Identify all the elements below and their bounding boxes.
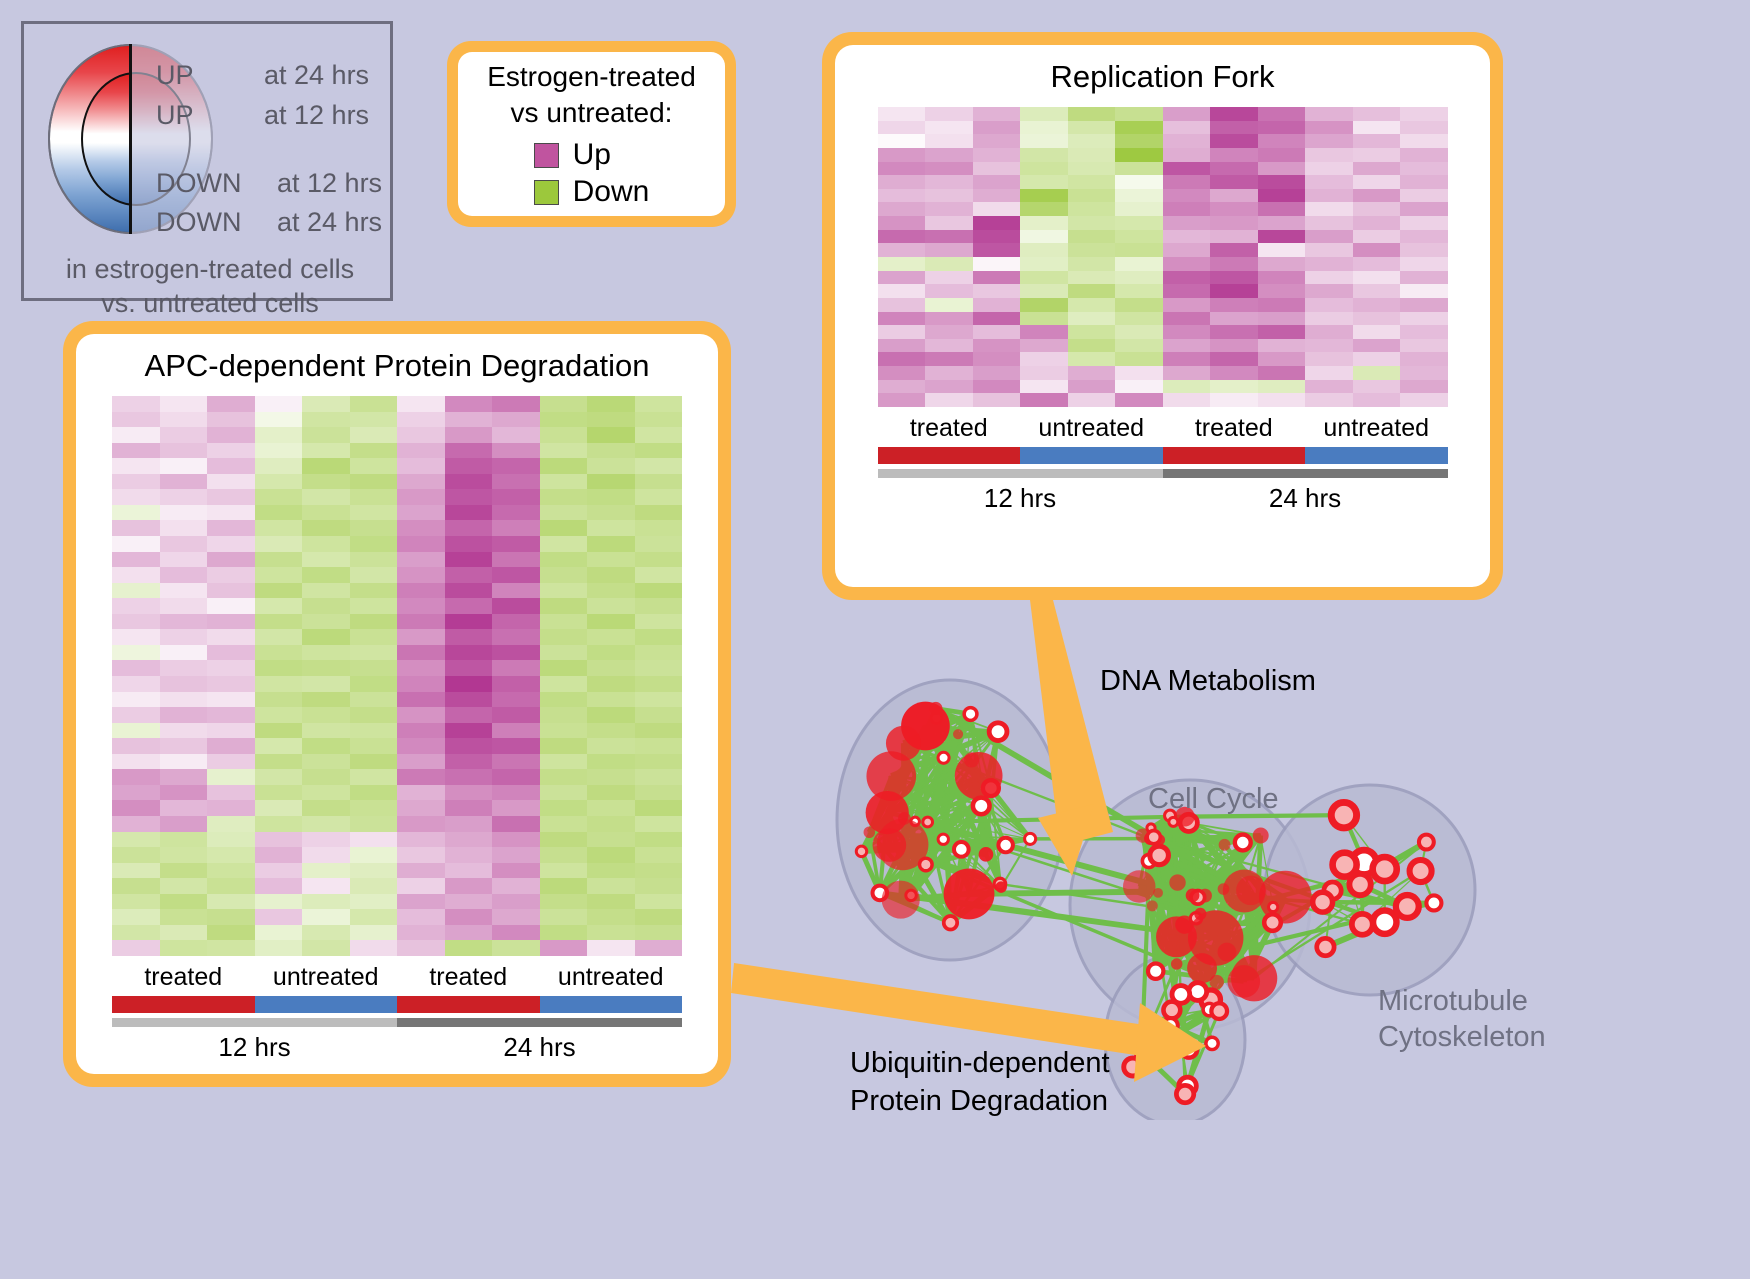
network-node[interactable] bbox=[1396, 895, 1419, 918]
heatmap-cell bbox=[1353, 339, 1401, 353]
heatmap-cell bbox=[1163, 134, 1211, 148]
heatmap-cell bbox=[1068, 175, 1116, 189]
heatmap-cell bbox=[350, 832, 398, 848]
heatmap-cell bbox=[540, 878, 588, 894]
heatmap-cell bbox=[397, 769, 445, 785]
heatmap-cell bbox=[1210, 107, 1258, 121]
heatmap-cell bbox=[445, 738, 493, 754]
network-node[interactable] bbox=[944, 916, 957, 929]
heatmap-cell bbox=[112, 676, 160, 692]
heatmap-cell bbox=[587, 800, 635, 816]
heatmap-cell bbox=[397, 785, 445, 801]
heatmap-cell bbox=[112, 738, 160, 754]
heatmap-cell bbox=[635, 816, 683, 832]
network-node[interactable] bbox=[973, 798, 990, 815]
network-node[interactable] bbox=[1171, 958, 1182, 969]
heatmap-cell bbox=[255, 505, 303, 521]
heatmap-cell bbox=[397, 567, 445, 583]
down-color-swatch bbox=[534, 180, 559, 205]
heatmap-cell bbox=[445, 536, 493, 552]
heatmap-cell bbox=[635, 878, 683, 894]
heatmap-cell bbox=[635, 692, 683, 708]
heatmap-cell bbox=[1020, 175, 1068, 189]
heatmap-cell bbox=[1068, 216, 1116, 230]
heatmap-cell bbox=[635, 458, 683, 474]
heatmap-cell bbox=[160, 909, 208, 925]
network-label-cell-cycle: Cell Cycle bbox=[1148, 783, 1279, 816]
heatmap-cell bbox=[112, 505, 160, 521]
heatmap-cell bbox=[255, 769, 303, 785]
network-node[interactable] bbox=[1176, 1085, 1193, 1102]
heatmap-cell bbox=[1258, 189, 1306, 203]
network-node[interactable] bbox=[1181, 1041, 1197, 1057]
group-labels-apc-dependent: treateduntreatedtreateduntreated bbox=[112, 963, 682, 992]
heatmap-cell bbox=[587, 567, 635, 583]
heatmap-cell bbox=[255, 614, 303, 630]
legend-label-down: Down bbox=[573, 175, 650, 209]
heatmap-cell bbox=[1353, 366, 1401, 380]
heatmap-cell bbox=[112, 645, 160, 661]
network-node[interactable] bbox=[953, 729, 963, 739]
network-node[interactable] bbox=[1147, 831, 1160, 844]
network-node[interactable] bbox=[998, 838, 1013, 853]
network-node[interactable] bbox=[1373, 857, 1397, 881]
network-node[interactable] bbox=[886, 726, 921, 761]
heatmap-cell bbox=[445, 925, 493, 941]
heatmap-cell bbox=[397, 660, 445, 676]
heatmap-cell bbox=[302, 692, 350, 708]
heatmap-cell bbox=[160, 598, 208, 614]
heatmap-cell bbox=[925, 312, 973, 326]
heatmap-cell bbox=[350, 489, 398, 505]
heatmap-cell bbox=[1068, 366, 1116, 380]
network-node[interactable] bbox=[1147, 900, 1158, 911]
estrogen-legend-title: Estrogen-treatedvs untreated: bbox=[487, 59, 696, 131]
group-label: treated bbox=[397, 963, 540, 992]
heatmap-cell bbox=[350, 692, 398, 708]
heatmap-cell bbox=[1353, 271, 1401, 285]
heatmap-cell bbox=[302, 723, 350, 739]
heatmap-cell bbox=[1163, 175, 1211, 189]
network-node[interactable] bbox=[979, 847, 994, 862]
heatmap-cell bbox=[302, 583, 350, 599]
heatmap-cell bbox=[302, 660, 350, 676]
panel-title-apc-dependent: APC-dependent Protein Degradation bbox=[145, 348, 650, 384]
heatmap-cell bbox=[302, 396, 350, 412]
network-node[interactable] bbox=[1211, 1003, 1227, 1019]
panel-apc-dependent-inner: APC-dependent Protein Degradation treate… bbox=[76, 334, 718, 1074]
heatmap-cell bbox=[302, 629, 350, 645]
heatmap-cell bbox=[397, 894, 445, 910]
network-node[interactable] bbox=[1172, 986, 1190, 1004]
group-label: treated bbox=[878, 414, 1021, 443]
heatmap-cell bbox=[397, 583, 445, 599]
network-node[interactable] bbox=[1228, 965, 1261, 998]
heatmap-cell bbox=[255, 878, 303, 894]
network-node[interactable] bbox=[1410, 860, 1432, 882]
heatmap-cell bbox=[1020, 380, 1068, 394]
network-node[interactable] bbox=[954, 842, 969, 857]
key-state-up-12: UP bbox=[156, 100, 194, 131]
network-node[interactable] bbox=[938, 834, 948, 844]
heatmap-cell bbox=[445, 676, 493, 692]
heatmap-cell bbox=[1305, 175, 1353, 189]
network-node[interactable] bbox=[1138, 1052, 1155, 1069]
heatmap-cell bbox=[973, 189, 1021, 203]
heatmap-cell bbox=[492, 940, 540, 956]
heatmap-cell bbox=[445, 785, 493, 801]
heatmap-cell bbox=[1115, 107, 1163, 121]
network-node[interactable] bbox=[1141, 1014, 1154, 1027]
network-node[interactable] bbox=[1186, 888, 1200, 902]
heatmap-cell bbox=[1305, 216, 1353, 230]
heatmap-cell bbox=[540, 629, 588, 645]
network-node[interactable] bbox=[995, 881, 1007, 893]
heatmap-cell bbox=[112, 785, 160, 801]
heatmap-cell bbox=[207, 614, 255, 630]
estrogen-legend-items: Up Down bbox=[534, 135, 650, 209]
group-color-segment bbox=[112, 996, 255, 1013]
heatmap-cell bbox=[1020, 298, 1068, 312]
heatmap-cell bbox=[587, 598, 635, 614]
heatmap-cell bbox=[160, 832, 208, 848]
heatmap-cell bbox=[540, 676, 588, 692]
network-node[interactable] bbox=[1313, 892, 1333, 912]
network-node[interactable] bbox=[938, 752, 949, 763]
heatmap-cell bbox=[160, 412, 208, 428]
heatmap-cell bbox=[255, 474, 303, 490]
heatmap-cell bbox=[112, 754, 160, 770]
network-node[interactable] bbox=[1223, 869, 1266, 912]
network-node[interactable] bbox=[989, 723, 1007, 741]
heatmap-cell bbox=[112, 816, 160, 832]
heatmap-cell bbox=[302, 443, 350, 459]
heatmap-cell bbox=[587, 769, 635, 785]
network-node[interactable] bbox=[882, 881, 920, 919]
network-node[interactable] bbox=[1169, 874, 1185, 890]
heatmap-cell bbox=[445, 489, 493, 505]
heatmap-cell bbox=[255, 738, 303, 754]
network-node[interactable] bbox=[1163, 1018, 1178, 1033]
heatmap-cell bbox=[445, 583, 493, 599]
heatmap-cell bbox=[397, 629, 445, 645]
heatmap-cell bbox=[635, 925, 683, 941]
network-node[interactable] bbox=[1264, 914, 1281, 931]
heatmap-cell bbox=[112, 909, 160, 925]
heatmap-cell bbox=[397, 832, 445, 848]
group-color-segment bbox=[878, 447, 1021, 464]
heatmap-cell bbox=[302, 769, 350, 785]
network-node[interactable] bbox=[1218, 883, 1230, 895]
heatmap-cell bbox=[1115, 121, 1163, 135]
legend-key-box: UP at 24 hrs UP at 12 hrs DOWN at 12 hrs… bbox=[21, 21, 393, 301]
heatmap-cell bbox=[1163, 189, 1211, 203]
heatmap-cell bbox=[1353, 189, 1401, 203]
heatmap-cell bbox=[973, 148, 1021, 162]
heatmap-cell bbox=[1305, 380, 1353, 394]
heatmap-cell bbox=[207, 769, 255, 785]
heatmap-cell bbox=[587, 754, 635, 770]
heatmap-cell bbox=[1020, 121, 1068, 135]
network-node[interactable] bbox=[1150, 846, 1169, 865]
heatmap-cell bbox=[445, 505, 493, 521]
network-node[interactable] bbox=[1123, 870, 1155, 902]
heatmap-cell bbox=[1163, 284, 1211, 298]
heatmap-cell bbox=[587, 536, 635, 552]
heatmap-cell bbox=[1400, 162, 1448, 176]
heatmap-cell bbox=[540, 940, 588, 956]
heatmap-cell bbox=[350, 925, 398, 941]
heatmap-cell bbox=[635, 738, 683, 754]
network-node[interactable] bbox=[1156, 916, 1197, 957]
heatmap-cell bbox=[1305, 148, 1353, 162]
heatmap-cell bbox=[255, 785, 303, 801]
heatmap-cell bbox=[1305, 134, 1353, 148]
heatmap-cell bbox=[350, 629, 398, 645]
network-node[interactable] bbox=[1352, 914, 1373, 935]
heatmap-cell bbox=[112, 536, 160, 552]
heatmap-cell bbox=[350, 583, 398, 599]
figure-canvas: UP at 24 hrs UP at 12 hrs DOWN at 12 hrs… bbox=[0, 0, 1750, 1279]
heatmap-cell bbox=[1163, 380, 1211, 394]
heatmap-cell bbox=[112, 692, 160, 708]
heatmap-cell bbox=[1068, 380, 1116, 394]
heatmap-cell bbox=[350, 878, 398, 894]
heatmap-cell bbox=[160, 676, 208, 692]
heatmap-cell bbox=[1020, 189, 1068, 203]
heatmap-cell bbox=[1068, 230, 1116, 244]
network-node[interactable] bbox=[1235, 835, 1251, 851]
heatmap-cell bbox=[973, 298, 1021, 312]
heatmap-cell bbox=[1400, 298, 1448, 312]
network-node[interactable] bbox=[1219, 839, 1231, 851]
network-node[interactable] bbox=[1331, 802, 1356, 827]
heatmap-cell bbox=[587, 692, 635, 708]
heatmap-cell bbox=[878, 216, 926, 230]
network-node[interactable] bbox=[944, 868, 995, 919]
heatmap-cell bbox=[112, 707, 160, 723]
heatmap-cell bbox=[350, 816, 398, 832]
panel-title-replication-fork: Replication Fork bbox=[1051, 59, 1275, 95]
network-node[interactable] bbox=[1333, 853, 1357, 877]
heatmap-cell bbox=[350, 505, 398, 521]
heatmap-cell bbox=[1305, 107, 1353, 121]
network-node[interactable] bbox=[1253, 828, 1269, 844]
heatmap-cell bbox=[160, 474, 208, 490]
heatmap-cell bbox=[1068, 107, 1116, 121]
heatmap-cell bbox=[973, 243, 1021, 257]
heatmap-cell bbox=[878, 352, 926, 366]
heatmap-cell bbox=[302, 754, 350, 770]
heatmap-cell bbox=[540, 847, 588, 863]
heatmap-cell bbox=[397, 645, 445, 661]
heatmap-cell bbox=[350, 738, 398, 754]
network-node[interactable] bbox=[1210, 975, 1224, 989]
heatmap-cell bbox=[1258, 352, 1306, 366]
heatmap-cell bbox=[1115, 352, 1163, 366]
network-node[interactable] bbox=[1269, 902, 1278, 911]
heatmap-cell bbox=[445, 723, 493, 739]
heatmap-cell bbox=[160, 800, 208, 816]
heatmap-cell bbox=[1020, 325, 1068, 339]
heatmap-cell bbox=[302, 676, 350, 692]
heatmap-cell bbox=[1400, 243, 1448, 257]
heatmap-cell bbox=[112, 660, 160, 676]
heatmap-cell bbox=[492, 925, 540, 941]
heatmap-cell bbox=[255, 676, 303, 692]
heatmap-cell bbox=[540, 909, 588, 925]
network-node[interactable] bbox=[964, 708, 977, 721]
heatmap-cell bbox=[1258, 243, 1306, 257]
network-node[interactable] bbox=[1169, 817, 1178, 826]
network-node[interactable] bbox=[1218, 943, 1237, 962]
heatmap-cell bbox=[492, 520, 540, 536]
network-node[interactable] bbox=[1148, 963, 1163, 978]
heatmap-cell bbox=[160, 816, 208, 832]
heatmap-cell bbox=[587, 505, 635, 521]
heatmap-cell bbox=[492, 692, 540, 708]
heatmap-cell bbox=[1020, 366, 1068, 380]
key-time-down-12: at 12 hrs bbox=[277, 168, 382, 199]
heatmap-cell bbox=[878, 175, 926, 189]
heatmap-cell bbox=[1163, 271, 1211, 285]
heatmap-cell bbox=[1210, 352, 1258, 366]
heatmap-cell bbox=[160, 660, 208, 676]
heatmap-cell bbox=[587, 863, 635, 879]
key-state-down-12: DOWN bbox=[156, 168, 241, 199]
heatmap-cell bbox=[255, 412, 303, 428]
heatmap-cell bbox=[397, 692, 445, 708]
heatmap-cell bbox=[973, 162, 1021, 176]
up-color-swatch bbox=[534, 143, 559, 168]
heatmap-cell bbox=[1115, 257, 1163, 271]
heatmap-cell bbox=[112, 520, 160, 536]
heatmap-cell bbox=[925, 352, 973, 366]
heatmap-cell bbox=[1353, 312, 1401, 326]
heatmap-cell bbox=[350, 536, 398, 552]
group-color-segment bbox=[1305, 447, 1448, 464]
heatmap-cell bbox=[207, 940, 255, 956]
key-time-12: at 12 hrs bbox=[264, 100, 369, 131]
heatmap-cell bbox=[973, 216, 1021, 230]
heatmap-cell bbox=[350, 769, 398, 785]
heatmap-cell bbox=[492, 878, 540, 894]
heatmap-cell bbox=[397, 878, 445, 894]
heatmap-cell bbox=[302, 738, 350, 754]
heatmap-cell bbox=[1068, 284, 1116, 298]
network-node[interactable] bbox=[1145, 1031, 1160, 1046]
time-labels-replication-fork: 12 hrs24 hrs bbox=[878, 483, 1448, 514]
network-node[interactable] bbox=[1153, 888, 1163, 898]
heatmap-cell bbox=[397, 847, 445, 863]
heatmap-cell bbox=[207, 458, 255, 474]
heatmap-cell bbox=[1163, 243, 1211, 257]
heatmap-cell bbox=[635, 769, 683, 785]
heatmap-cell bbox=[492, 738, 540, 754]
heatmap-cell bbox=[1068, 189, 1116, 203]
heatmap-cell bbox=[1258, 298, 1306, 312]
heatmap-cell bbox=[1400, 352, 1448, 366]
network-node[interactable] bbox=[1025, 833, 1036, 844]
heatmap-cell bbox=[1258, 216, 1306, 230]
heatmap-cell bbox=[1400, 230, 1448, 244]
heatmap-cell bbox=[635, 614, 683, 630]
heatmap-cell bbox=[445, 427, 493, 443]
heatmap-cell bbox=[1210, 393, 1258, 407]
group-label: treated bbox=[112, 963, 255, 992]
heatmap-cell bbox=[445, 832, 493, 848]
heatmap-cell bbox=[302, 909, 350, 925]
heatmap-cell bbox=[635, 785, 683, 801]
heatmap-cell bbox=[445, 660, 493, 676]
network-node[interactable] bbox=[877, 819, 929, 871]
heatmap-cell bbox=[302, 863, 350, 879]
network-node[interactable] bbox=[856, 846, 866, 856]
network-node[interactable] bbox=[1317, 938, 1334, 955]
heatmap-cell bbox=[973, 366, 1021, 380]
heatmap-cell bbox=[1353, 175, 1401, 189]
heatmap-cell bbox=[350, 567, 398, 583]
heatmap-cell bbox=[1163, 339, 1211, 353]
heatmap-cell bbox=[587, 894, 635, 910]
heatmap-cell bbox=[207, 863, 255, 879]
heatmap-cell bbox=[255, 629, 303, 645]
heatmap-cell bbox=[1305, 162, 1353, 176]
heatmap-cell bbox=[160, 536, 208, 552]
heatmap-cell bbox=[302, 645, 350, 661]
heatmap-cell bbox=[255, 692, 303, 708]
network-node[interactable] bbox=[1426, 895, 1441, 910]
network-node[interactable] bbox=[864, 826, 876, 838]
heatmap-cell bbox=[1400, 393, 1448, 407]
heatmap-cell bbox=[1115, 380, 1163, 394]
heatmap-cell bbox=[973, 107, 1021, 121]
heatmap-cell bbox=[255, 940, 303, 956]
heatmap-cell bbox=[492, 800, 540, 816]
network-node[interactable] bbox=[923, 817, 933, 827]
heatmap-cell bbox=[1353, 325, 1401, 339]
heatmap-cell bbox=[302, 598, 350, 614]
heatmap-cell bbox=[445, 878, 493, 894]
heatmap-cell bbox=[635, 894, 683, 910]
heatmap-cell bbox=[302, 940, 350, 956]
network-node[interactable] bbox=[964, 752, 979, 767]
heatmap-cell bbox=[1353, 352, 1401, 366]
heatmap-cell bbox=[878, 148, 926, 162]
heatmap-cell bbox=[160, 925, 208, 941]
heatmap-cell bbox=[492, 443, 540, 459]
heatmap-cell bbox=[445, 940, 493, 956]
network-node[interactable] bbox=[1206, 1037, 1218, 1049]
heatmap-cell bbox=[540, 754, 588, 770]
heatmap-cell bbox=[1400, 148, 1448, 162]
heatmap-cell bbox=[973, 121, 1021, 135]
heatmap-cell bbox=[878, 257, 926, 271]
heatmap-cell bbox=[1068, 121, 1116, 135]
heatmap-cell bbox=[878, 339, 926, 353]
network-node[interactable] bbox=[1419, 835, 1434, 850]
network-node[interactable] bbox=[1373, 910, 1396, 933]
heatmap-cell bbox=[587, 474, 635, 490]
heatmap-cell bbox=[635, 909, 683, 925]
heatmap-cell bbox=[255, 894, 303, 910]
heatmap-cell bbox=[1258, 107, 1306, 121]
heatmap-cell bbox=[397, 738, 445, 754]
heatmap-cell bbox=[587, 412, 635, 428]
heatmap-cell bbox=[587, 552, 635, 568]
heatmap-cell bbox=[1305, 121, 1353, 135]
heatmap-cell bbox=[878, 121, 926, 135]
